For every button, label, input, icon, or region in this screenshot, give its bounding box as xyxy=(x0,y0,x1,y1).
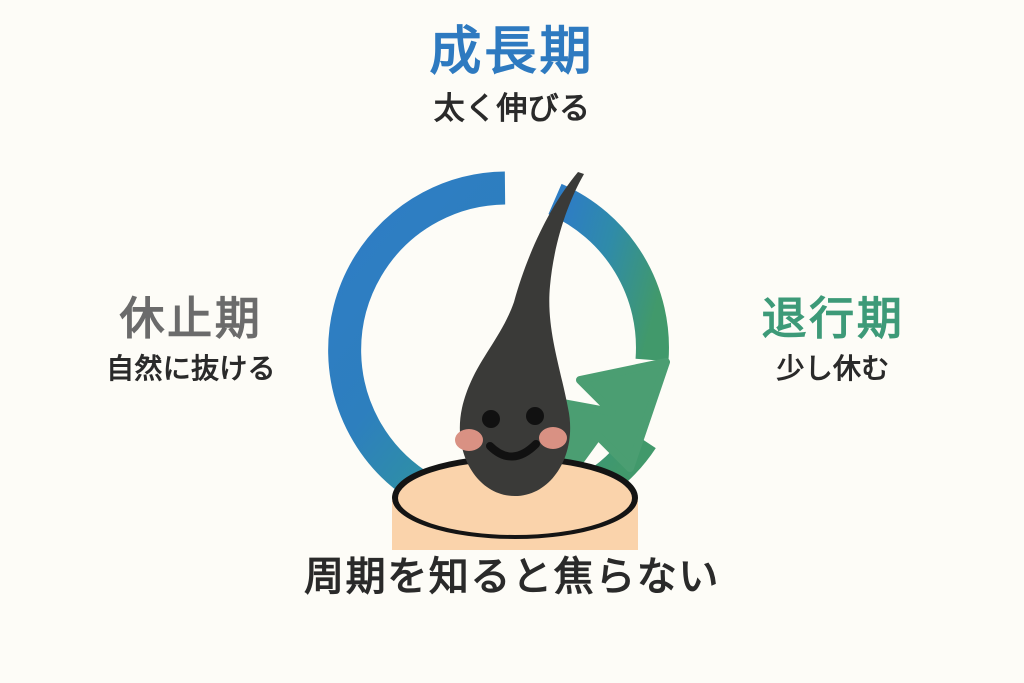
infographic-canvas: 成長期 太く伸びる 休止期 自然に抜ける 退行期 少し休む 周期を知ると焦らない xyxy=(0,0,1024,683)
mascot-cheek-left xyxy=(455,429,483,451)
ring-arc-upper-right xyxy=(555,199,652,360)
phase-subtitle-growth: 太く伸びる xyxy=(0,94,1024,125)
phase-title-growth: 成長期 xyxy=(0,26,1024,78)
phase-subtitle-resting: 自然に抜ける xyxy=(58,355,324,383)
phase-title-regression: 退行期 xyxy=(700,296,966,341)
mascot-cheek-right xyxy=(539,427,567,449)
phase-label-regression: 退行期 少し休む xyxy=(700,296,966,383)
phase-subtitle-regression: 少し休む xyxy=(700,355,966,383)
caption-text: 周期を知ると焦らない xyxy=(0,557,1024,597)
bottom-caption: 周期を知ると焦らない xyxy=(0,557,1024,597)
hair-cycle-illustration xyxy=(312,150,712,550)
mascot-eye-right xyxy=(526,407,544,425)
phase-title-resting: 休止期 xyxy=(58,296,324,341)
phase-label-resting: 休止期 自然に抜ける xyxy=(58,296,324,383)
mascot-eye-left xyxy=(482,410,500,428)
phase-label-growth: 成長期 太く伸びる xyxy=(0,26,1024,125)
